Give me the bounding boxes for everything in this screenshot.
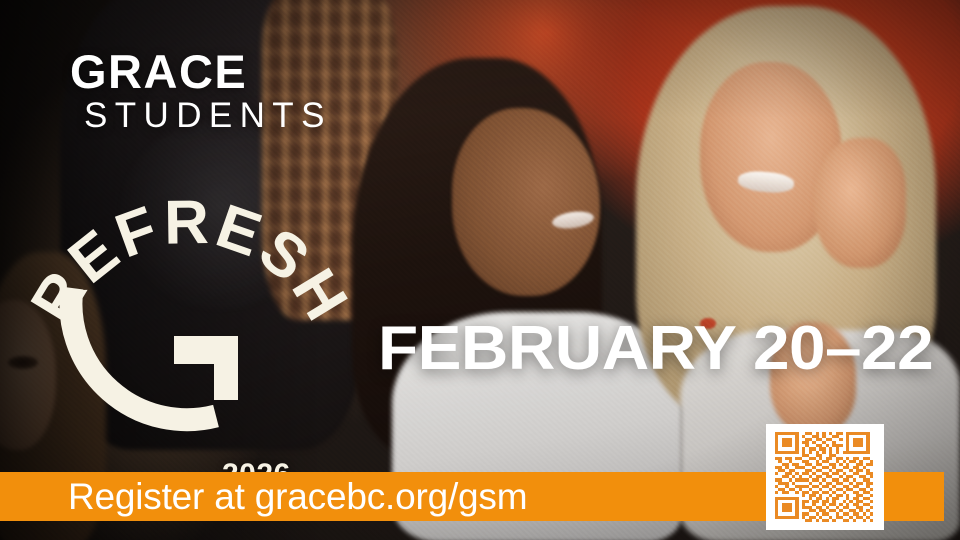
qr-code-grid <box>775 432 873 522</box>
grace-students-logo: GRACE STUDENTS <box>70 48 332 133</box>
event-dates-headline: FEBRUARY 20–22 <box>378 313 933 384</box>
refresh-badge-svg: REFRESH <box>28 140 348 440</box>
refresh-arrowhead-icon <box>174 336 238 400</box>
refresh-arc-textpath: REFRESH <box>18 188 362 334</box>
promo-poster: GRACE STUDENTS REFRESH 2026 FEBRUARY 20–… <box>0 0 960 540</box>
logo-line-students: STUDENTS <box>84 98 332 133</box>
refresh-arc-text: REFRESH <box>18 188 362 334</box>
logo-line-grace: GRACE <box>70 48 332 95</box>
refresh-badge: REFRESH 2026 <box>28 140 348 440</box>
register-url-text: Register at gracebc.org/gsm <box>68 470 527 523</box>
qr-code[interactable] <box>766 424 884 530</box>
